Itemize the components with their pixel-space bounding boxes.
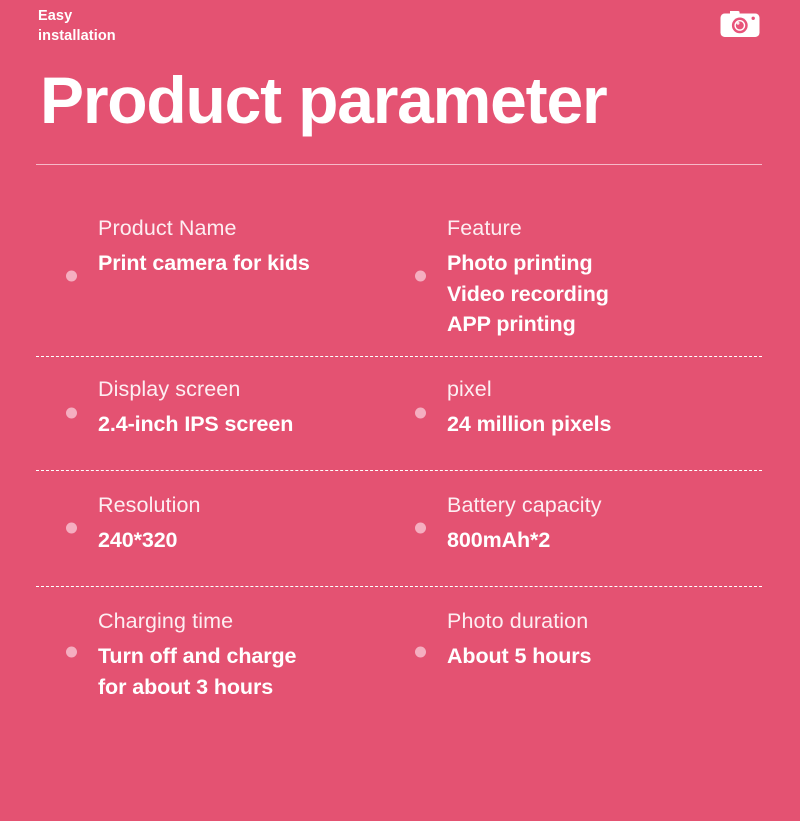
table-row: Charging time Turn off and charge for ab…: [36, 586, 762, 718]
spec-cell: Product Name Print camera for kids: [36, 196, 399, 356]
spec-value: 24 million pixels: [447, 409, 762, 440]
spec-label: Display screen: [98, 375, 399, 403]
bullet-dot-icon: [415, 270, 426, 281]
table-row: Display screen 2.4-inch IPS screen pixel…: [36, 356, 762, 470]
spec-cell: pixel 24 million pixels: [399, 357, 762, 470]
spec-table: Product Name Print camera for kids Featu…: [36, 196, 762, 718]
bullet-dot-icon: [415, 647, 426, 658]
title-divider: [36, 164, 762, 165]
spec-value: 2.4-inch IPS screen: [98, 409, 399, 440]
easy-installation-badge: Easy installation: [38, 7, 116, 46]
spec-cell: Display screen 2.4-inch IPS screen: [36, 357, 399, 470]
bullet-dot-icon: [66, 270, 77, 281]
spec-label: Battery capacity: [447, 491, 762, 519]
spec-label: Resolution: [98, 491, 399, 519]
bullet-dot-icon: [66, 647, 77, 658]
spec-cell: Resolution 240*320: [36, 471, 399, 586]
spec-cell: Photo duration About 5 hours: [399, 587, 762, 718]
spec-value: Turn off and charge for about 3 hours: [98, 641, 399, 702]
bullet-dot-icon: [66, 523, 77, 534]
spec-cell: Feature Photo printing Video recording A…: [399, 196, 762, 356]
spec-value: 800mAh*2: [447, 525, 762, 556]
camera-icon: [717, 7, 763, 41]
spec-label: Product Name: [98, 214, 399, 242]
bullet-dot-icon: [66, 408, 77, 419]
spec-value: Photo printing Video recording APP print…: [447, 248, 762, 340]
spec-value: About 5 hours: [447, 641, 762, 672]
table-row: Product Name Print camera for kids Featu…: [36, 196, 762, 356]
spec-value: Print camera for kids: [98, 248, 399, 279]
spec-label: Photo duration: [447, 607, 762, 635]
table-row: Resolution 240*320 Battery capacity 800m…: [36, 470, 762, 586]
spec-value: 240*320: [98, 525, 399, 556]
bullet-dot-icon: [415, 408, 426, 419]
page-title: Product parameter: [40, 67, 606, 133]
spec-cell: Battery capacity 800mAh*2: [399, 471, 762, 586]
spec-label: Charging time: [98, 607, 399, 635]
spec-label: pixel: [447, 375, 762, 403]
spec-cell: Charging time Turn off and charge for ab…: [36, 587, 399, 718]
spec-label: Feature: [447, 214, 762, 242]
bullet-dot-icon: [415, 523, 426, 534]
product-parameter-infographic: { "theme": { "background": "#e45272", "t…: [0, 0, 800, 821]
